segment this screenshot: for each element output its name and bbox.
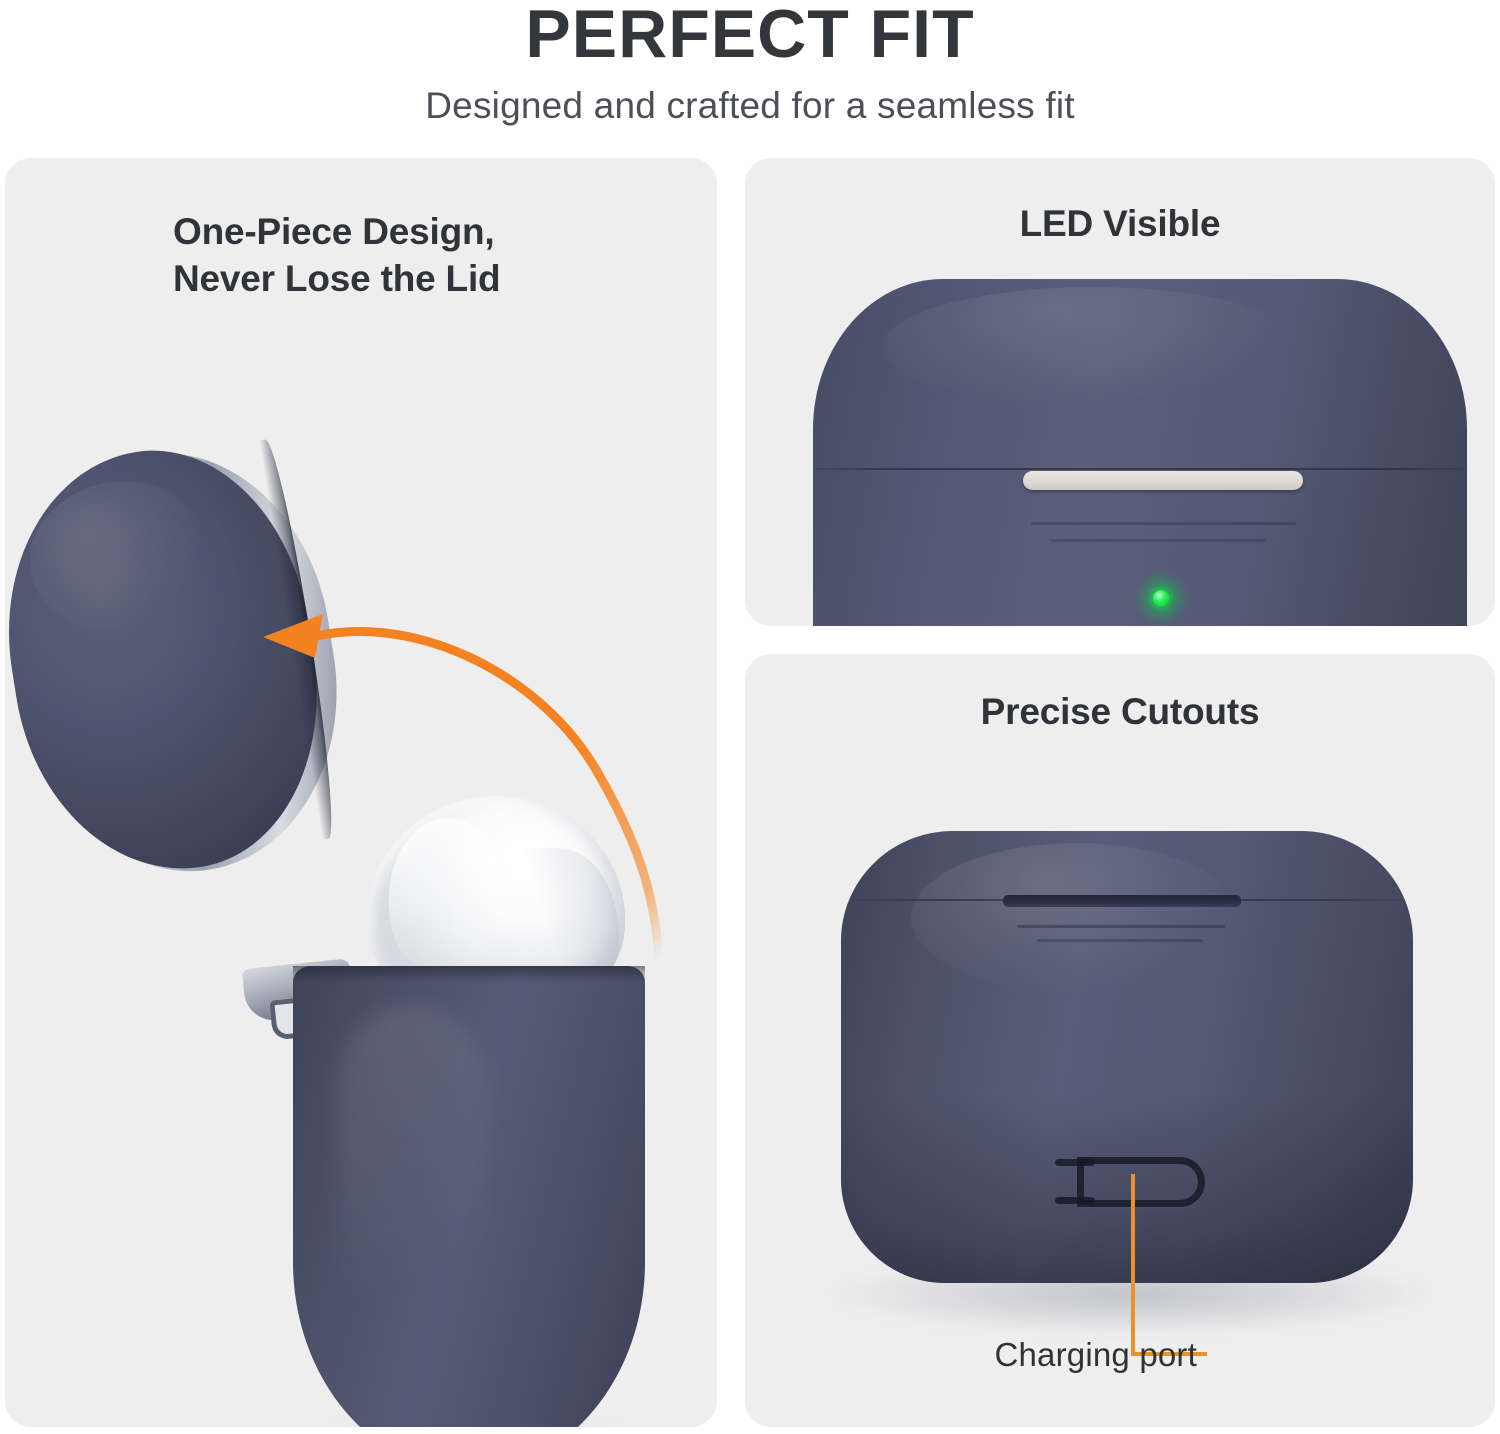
charging-port-cutout (1055, 1151, 1205, 1213)
precise-cutouts-illustration: Charging port (745, 654, 1495, 1427)
panel-led-visible: LED Visible (745, 158, 1495, 626)
lid-body (5, 430, 343, 892)
led-indicator-icon (1153, 590, 1169, 606)
earbud-highlight (389, 818, 509, 968)
one-piece-design-illustration (5, 158, 717, 1427)
case-ridge-lower (1051, 539, 1266, 542)
panel-one-piece-design: One-Piece Design, Never Lose the Lid (5, 158, 717, 1427)
lid-highlight (19, 469, 220, 645)
case-bottom-ridge-lower (1037, 939, 1203, 942)
lid-opening-slot (1023, 471, 1303, 490)
case-bottom-view (841, 831, 1413, 1283)
case-bottom-ridge-upper (1017, 925, 1225, 928)
page-title: PERFECT FIT (0, 0, 1500, 71)
case-bottom-highlight (911, 843, 1241, 993)
panel-precise-cutouts: Precise Cutouts Charging po (745, 654, 1495, 1427)
case-lid-open (5, 425, 375, 901)
lid-seam-line (813, 468, 1467, 470)
case-bottom-slot (1003, 895, 1241, 907)
case-top-highlight (883, 287, 1303, 407)
page-header: PERFECT FIT Designed and crafted for a s… (0, 0, 1500, 150)
case-body-highlight (337, 1006, 487, 1386)
page-subtitle: Designed and crafted for a seamless fit (0, 85, 1500, 127)
charging-port-label: Charging port (817, 1336, 1197, 1374)
port-slot (1077, 1157, 1205, 1207)
case-ridge-upper (1031, 522, 1296, 525)
case-front-view (813, 279, 1467, 626)
case-body (293, 966, 645, 1427)
led-visible-illustration (745, 158, 1495, 626)
product-feature-page: PERFECT FIT Designed and crafted for a s… (0, 0, 1500, 1434)
case-body-rim (293, 966, 645, 982)
